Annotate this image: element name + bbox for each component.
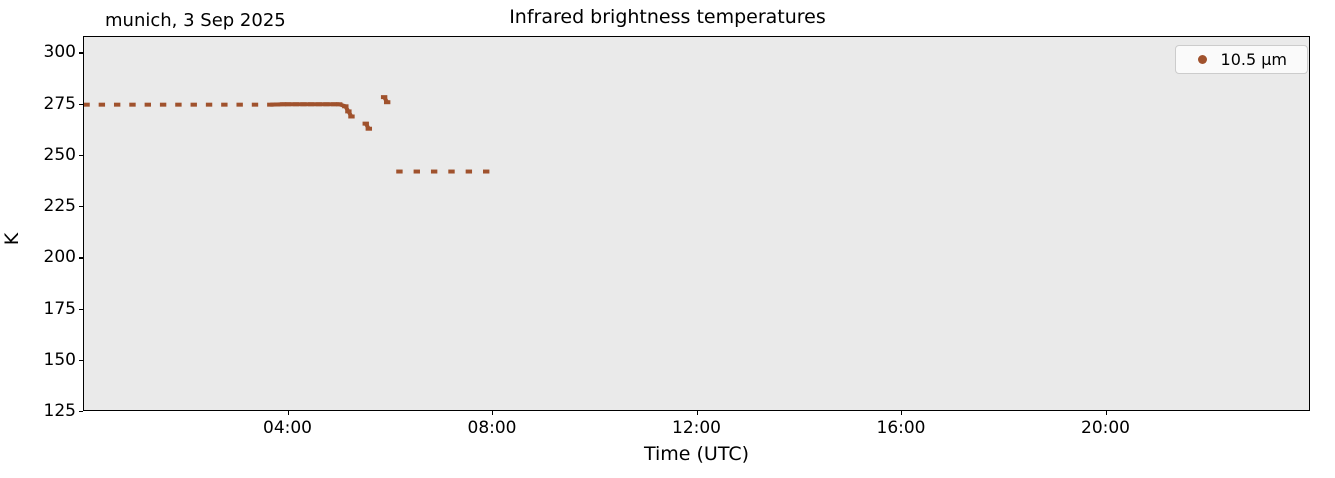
y-tick-label: 275 <box>0 94 76 114</box>
x-tick-label: 16:00 <box>877 418 926 438</box>
data-segment <box>366 124 369 129</box>
data-point <box>84 103 90 107</box>
data-point <box>175 103 181 107</box>
data-point <box>466 170 472 174</box>
data-segment <box>348 111 351 116</box>
data-point <box>221 103 227 107</box>
data-canvas <box>84 37 1309 410</box>
y-tick-mark <box>79 411 83 412</box>
y-tick-label: 200 <box>0 247 76 267</box>
x-axis-label: Time (UTC) <box>83 443 1310 465</box>
y-axis-ticks: 125150175200225250275300 <box>0 0 76 478</box>
x-tick-mark <box>492 411 493 415</box>
x-tick-mark <box>1106 411 1107 415</box>
x-tick-label: 20:00 <box>1081 418 1130 438</box>
data-point <box>396 170 402 174</box>
data-point <box>191 103 197 107</box>
x-tick-label: 08:00 <box>468 418 517 438</box>
y-tick-label: 175 <box>0 299 76 319</box>
x-tick-mark <box>288 411 289 415</box>
legend-marker-icon <box>1198 55 1207 64</box>
data-point <box>129 103 135 107</box>
x-tick-label: 04:00 <box>263 418 312 438</box>
legend-label: 10.5 µm <box>1221 50 1297 69</box>
y-tick-label: 300 <box>0 42 76 62</box>
x-tick-label: 12:00 <box>672 418 721 438</box>
data-point <box>252 103 258 107</box>
y-tick-label: 250 <box>0 145 76 165</box>
data-point <box>236 103 242 107</box>
x-tick-mark <box>901 411 902 415</box>
y-tick-label: 150 <box>0 350 76 370</box>
axes-subtitle: munich, 3 Sep 2025 <box>105 10 286 31</box>
data-segment <box>345 106 348 111</box>
x-tick-mark <box>697 411 698 415</box>
data-point <box>145 103 151 107</box>
y-tick-label: 225 <box>0 196 76 216</box>
legend[interactable]: 10.5 µm <box>1175 45 1308 74</box>
y-tick-label: 125 <box>0 401 76 421</box>
data-point <box>431 170 437 174</box>
series-10-5-um <box>84 95 489 173</box>
data-point <box>160 103 166 107</box>
data-segment <box>339 104 345 106</box>
matplotlib-figure: Infrared brightness temperatures munich,… <box>0 0 1335 478</box>
data-point <box>448 170 454 174</box>
data-point <box>99 103 105 107</box>
plot-area <box>83 36 1310 411</box>
data-point <box>206 103 212 107</box>
data-point <box>414 170 420 174</box>
data-point <box>483 170 489 174</box>
data-point <box>114 103 120 107</box>
data-segment <box>384 97 387 102</box>
